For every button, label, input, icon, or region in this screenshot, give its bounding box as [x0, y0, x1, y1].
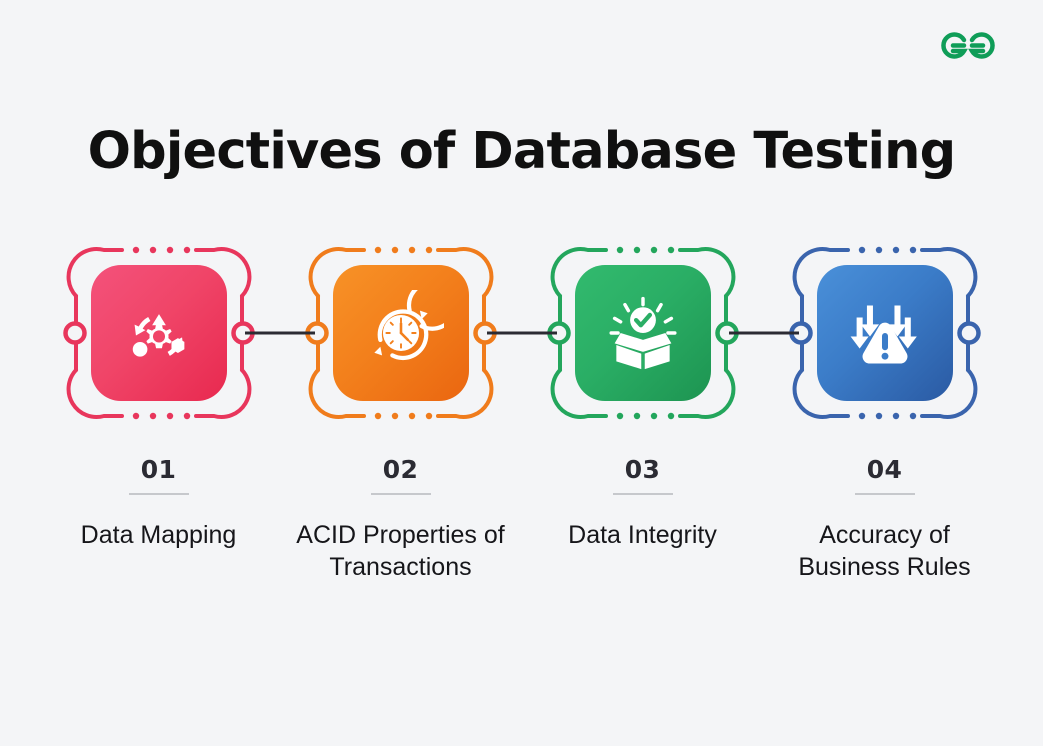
connector-line-1: [245, 332, 315, 335]
step-item-2: 02 ACID Properties of Transactions: [280, 248, 522, 583]
step-frame-2: [316, 248, 486, 418]
steps-row: 01 Data Mapping: [0, 248, 1043, 648]
open-box-check-icon: [600, 290, 686, 376]
step-rule-3: [613, 493, 673, 495]
step-number-2: 02: [383, 455, 418, 484]
step-tile-1: [91, 265, 227, 401]
step-tile-4: [817, 265, 953, 401]
step-number-4: 04: [867, 455, 902, 484]
step-caption-2: ACID Properties of Transactions: [293, 519, 508, 583]
step-rule-1: [129, 493, 189, 495]
step-item-4: 04 Accuracy of Business Rules: [764, 248, 1006, 583]
step-frame-1: [74, 248, 244, 418]
step-number-3: 03: [625, 455, 660, 484]
connector-line-2: [487, 332, 557, 335]
step-caption-1: Data Mapping: [81, 519, 237, 551]
step-caption-4: Accuracy of Business Rules: [777, 519, 992, 583]
step-item-3: 03 Data Integrity: [522, 248, 764, 551]
step-item-1: 01 Data Mapping: [38, 248, 280, 551]
geeksforgeeks-logo: [935, 22, 1001, 66]
gear-cycle-icon: [116, 290, 202, 376]
step-number-1: 01: [141, 455, 176, 484]
connector-line-3: [729, 332, 799, 335]
step-rule-4: [855, 493, 915, 495]
step-tile-3: [575, 265, 711, 401]
step-frame-3: [558, 248, 728, 418]
step-frame-4: [800, 248, 970, 418]
step-tile-2: [333, 265, 469, 401]
warning-triangle-arrows-icon: [842, 290, 928, 376]
page-title: Objectives of Database Testing: [0, 122, 1043, 181]
clock-refresh-icon: [358, 290, 444, 376]
step-caption-3: Data Integrity: [568, 519, 717, 551]
step-rule-2: [371, 493, 431, 495]
